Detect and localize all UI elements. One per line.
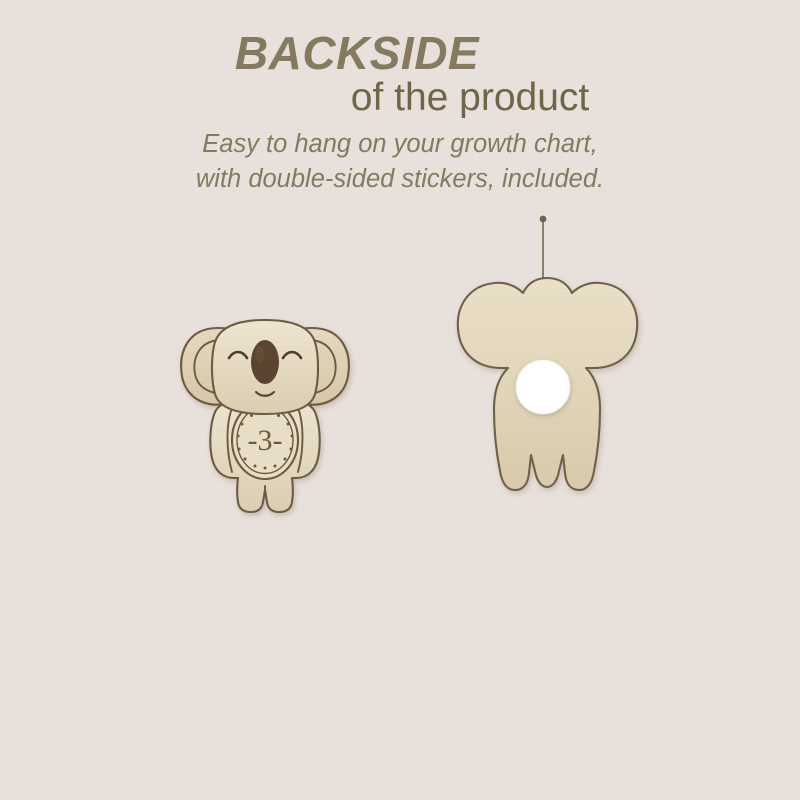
belly-age-number: -3- <box>248 424 283 457</box>
double-sided-sticker <box>516 360 570 414</box>
koala-front-body-group: -3- <box>181 320 349 512</box>
koala-head <box>212 320 318 414</box>
koala-front-figure: -3- <box>160 300 370 525</box>
tagline: Easy to hang on your growth chart, with … <box>0 127 800 197</box>
heading-block: BACKSIDE of the product <box>0 30 800 117</box>
string-knot <box>540 216 547 223</box>
tagline-line-1: Easy to hang on your growth chart, <box>0 127 800 162</box>
tagline-line-2: with double-sided stickers, included. <box>0 162 800 197</box>
koala-nose <box>251 340 279 384</box>
koala-back-figure <box>440 205 655 550</box>
page-subtitle: of the product <box>351 78 590 117</box>
product-image-canvas: BACKSIDE of the product Easy to hang on … <box>0 0 800 800</box>
heading-line-2-row: of the product <box>0 76 800 117</box>
heading-line-1-row: BACKSIDE <box>0 30 800 76</box>
page-title: BACKSIDE <box>235 30 479 76</box>
